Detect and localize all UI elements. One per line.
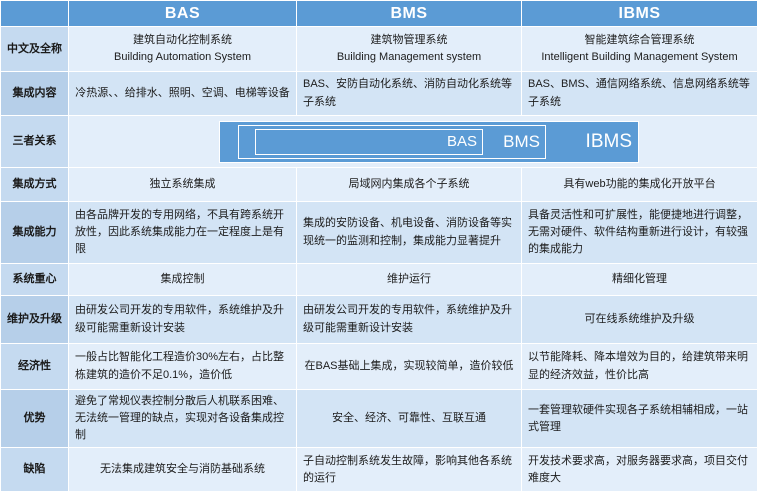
table-header: BAS BMS IBMS [1, 1, 757, 27]
cell-line: Building Automation System [75, 49, 290, 66]
row-label-defect: 缺陷 [1, 448, 69, 492]
table-row: 集成能力 由各品牌开发的专用网络，不具有跨系统开放性，因此系统集成能力在一定程度… [1, 202, 757, 264]
cell-advantage-ibms: 一套管理软硬件实现各子系统相辅相成，一站式管理 [522, 390, 757, 448]
cell-economy-bas: 一般占比智能化工程造价30%左右，占比整栋建筑的造价不足0.1%，造价低 [69, 344, 297, 390]
cell-maintenance-upgrade-ibms: 可在线系统维护及升级 [522, 296, 757, 344]
diagram-box-bas: BAS [255, 129, 483, 155]
cell-maintenance-upgrade-bas: 由研发公司开发的专用软件，系统维护及升级可能需重新设计安装 [69, 296, 297, 344]
cell-defect-bas: 无法集成建筑安全与消防基础系统 [69, 448, 297, 492]
diagram-box-ibms: BAS BMS IBMS [219, 121, 639, 163]
cell-defect-ibms: 开发技术要求高，对服务器要求高，项目交付难度大 [522, 448, 757, 492]
cell-integration-content-bas: 冷热源、、给排水、照明、空调、电梯等设备 [69, 72, 297, 116]
header-corner-cell [1, 1, 69, 27]
table-row: 优势 避免了常规仪表控制分散后人机联系困难、无法统一管理的缺点，实现对各设备集成… [1, 390, 757, 448]
cell-maintenance-upgrade-bms: 由研发公司开发的专用软件，系统维护及升级可能需重新设计安装 [297, 296, 522, 344]
cell-integration-ability-bas: 由各品牌开发的专用网络，不具有跨系统开放性，因此系统集成能力在一定程度上是有限 [69, 202, 297, 264]
row-label-integration-ability: 集成能力 [1, 202, 69, 264]
cell-economy-ibms: 以节能降耗、降本增效为目的，给建筑带来明显的经济效益，性价比高 [522, 344, 757, 390]
table-row: 经济性 一般占比智能化工程造价30%左右，占比整栋建筑的造价不足0.1%，造价低… [1, 344, 757, 390]
table-row: 集成内容 冷热源、、给排水、照明、空调、电梯等设备 BAS、安防自动化系统、消防… [1, 72, 757, 116]
diagram-label-bas: BAS [447, 134, 477, 149]
cell-relationship-diagram: BAS BMS IBMS [69, 116, 757, 168]
bas-bms-ibms-comparison-table: BAS BMS IBMS 中文及全称 建筑自动化控制系统 Building Au… [0, 0, 757, 492]
row-label-advantage: 优势 [1, 390, 69, 448]
cell-integration-mode-ibms: 具有web功能的集成化开放平台 [522, 168, 757, 202]
column-header-ibms: IBMS [522, 1, 757, 27]
row-label-chinese-fullname: 中文及全称 [1, 27, 69, 72]
cell-chinese-fullname-bas: 建筑自动化控制系统 Building Automation System [69, 27, 297, 72]
diagram-label-ibms: IBMS [586, 132, 632, 151]
column-header-bms: BMS [297, 1, 522, 27]
table-row: 系统重心 集成控制 维护运行 精细化管理 [1, 264, 757, 296]
cell-line: 智能建筑综合管理系统 [528, 32, 751, 49]
cell-integration-content-ibms: BAS、BMS、通信网络系统、信息网络系统等子系统 [522, 72, 757, 116]
cell-chinese-fullname-bms: 建筑物管理系统 Building Management system [297, 27, 522, 72]
row-label-integration-mode: 集成方式 [1, 168, 69, 202]
table-row: 维护及升级 由研发公司开发的专用软件，系统维护及升级可能需重新设计安装 由研发公… [1, 296, 757, 344]
cell-integration-mode-bas: 独立系统集成 [69, 168, 297, 202]
diagram-label-bms: BMS [503, 133, 540, 150]
cell-integration-mode-bms: 局域网内集成各个子系统 [297, 168, 522, 202]
cell-line: 建筑自动化控制系统 [75, 32, 290, 49]
nested-scope-diagram: BAS BMS IBMS [69, 116, 757, 167]
table-row: 三者关系 BAS BMS IBMS [1, 116, 757, 168]
table-row: 集成方式 独立系统集成 局域网内集成各个子系统 具有web功能的集成化开放平台 [1, 168, 757, 202]
cell-defect-bms: 子自动控制系统发生故障，影响其他各系统的运行 [297, 448, 522, 492]
row-label-integration-content: 集成内容 [1, 72, 69, 116]
cell-system-focus-bas: 集成控制 [69, 264, 297, 296]
table-row: 缺陷 无法集成建筑安全与消防基础系统 子自动控制系统发生故障，影响其他各系统的运… [1, 448, 757, 492]
cell-advantage-bms: 安全、经济、可靠性、互联互通 [297, 390, 522, 448]
row-label-system-focus: 系统重心 [1, 264, 69, 296]
cell-advantage-bas: 避免了常规仪表控制分散后人机联系困难、无法统一管理的缺点，实现对各设备集成控制 [69, 390, 297, 448]
cell-economy-bms: 在BAS基础上集成，实现较简单，造价较低 [297, 344, 522, 390]
cell-integration-ability-ibms: 具备灵活性和可扩展性，能便捷地进行调整，无需对硬件、软件结构重新进行设计，有较强… [522, 202, 757, 264]
cell-integration-ability-bms: 集成的安防设备、机电设备、消防设备等实现统一的监测和控制，集成能力显著提升 [297, 202, 522, 264]
cell-line: 建筑物管理系统 [303, 32, 515, 49]
cell-integration-content-bms: BAS、安防自动化系统、消防自动化系统等子系统 [297, 72, 522, 116]
cell-chinese-fullname-ibms: 智能建筑综合管理系统 Intelligent Building Manageme… [522, 27, 757, 72]
cell-system-focus-bms: 维护运行 [297, 264, 522, 296]
cell-line: Building Management system [303, 49, 515, 66]
diagram-box-bms: BAS BMS [238, 125, 546, 159]
table-body: 中文及全称 建筑自动化控制系统 Building Automation Syst… [1, 27, 757, 492]
cell-line: Intelligent Building Management System [528, 49, 751, 66]
table-row: 中文及全称 建筑自动化控制系统 Building Automation Syst… [1, 27, 757, 72]
row-label-relationship: 三者关系 [1, 116, 69, 168]
row-label-maintenance-upgrade: 维护及升级 [1, 296, 69, 344]
row-label-economy: 经济性 [1, 344, 69, 390]
column-header-bas: BAS [69, 1, 297, 27]
cell-system-focus-ibms: 精细化管理 [522, 264, 757, 296]
header-row: BAS BMS IBMS [1, 1, 757, 27]
